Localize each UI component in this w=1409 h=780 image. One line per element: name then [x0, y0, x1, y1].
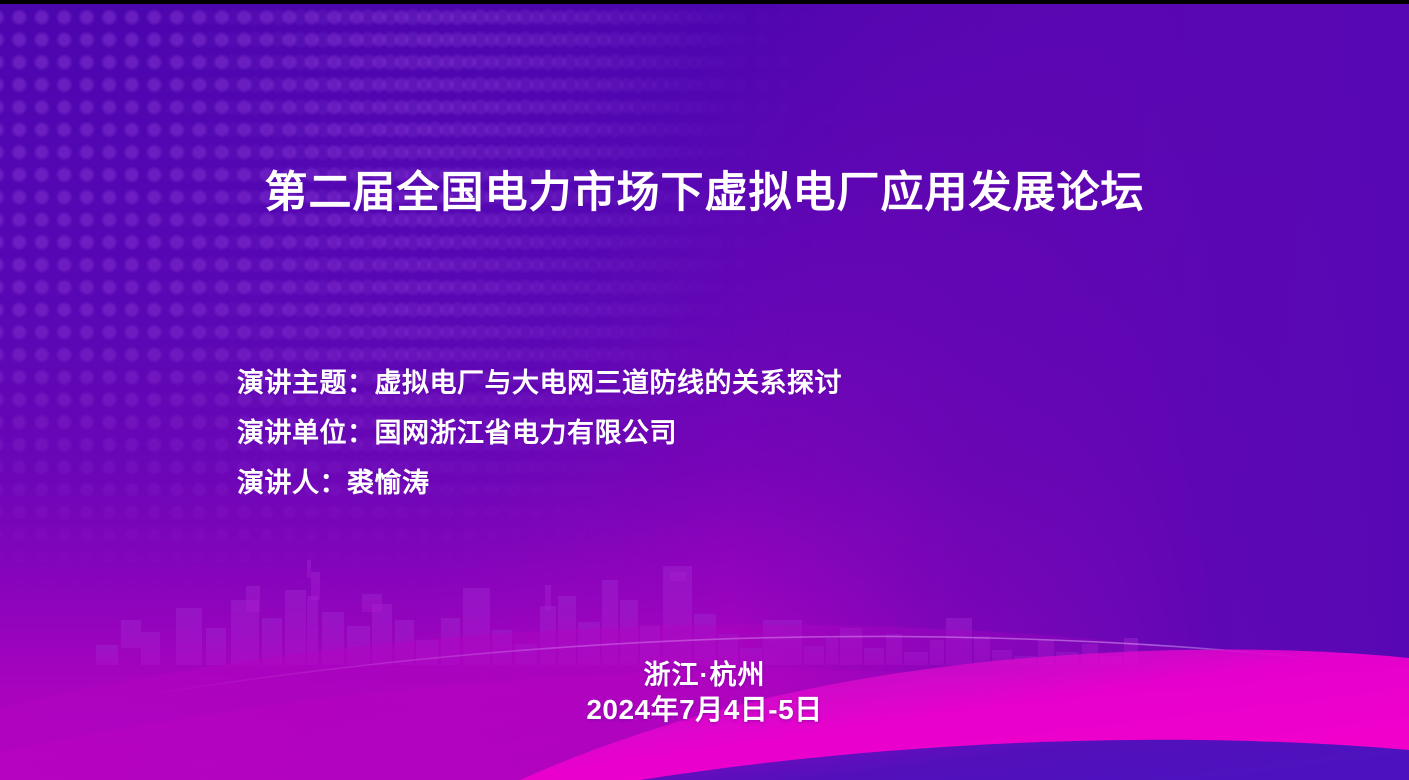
- footer-date: 2024年7月4日-5日: [0, 692, 1409, 728]
- presentation-slide: 第二届全国电力市场下虚拟电厂应用发展论坛 演讲主题：虚拟电厂与大电网三道防线的关…: [0, 0, 1409, 780]
- page-title: 第二届全国电力市场下虚拟电厂应用发展论坛: [0, 170, 1409, 217]
- info-line-topic: 演讲主题：虚拟电厂与大电网三道防线的关系探讨: [237, 358, 842, 408]
- footer-block: 浙江·杭州 2024年7月4日-5日: [0, 658, 1409, 728]
- info-line-organization: 演讲单位：国网浙江省电力有限公司: [237, 408, 842, 458]
- top-edge-bar: [0, 0, 1409, 4]
- speaker-info-block: 演讲主题：虚拟电厂与大电网三道防线的关系探讨 演讲单位：国网浙江省电力有限公司 …: [237, 358, 842, 508]
- footer-city: 浙江·杭州: [0, 658, 1409, 692]
- info-line-speaker: 演讲人：裘愉涛: [237, 458, 842, 508]
